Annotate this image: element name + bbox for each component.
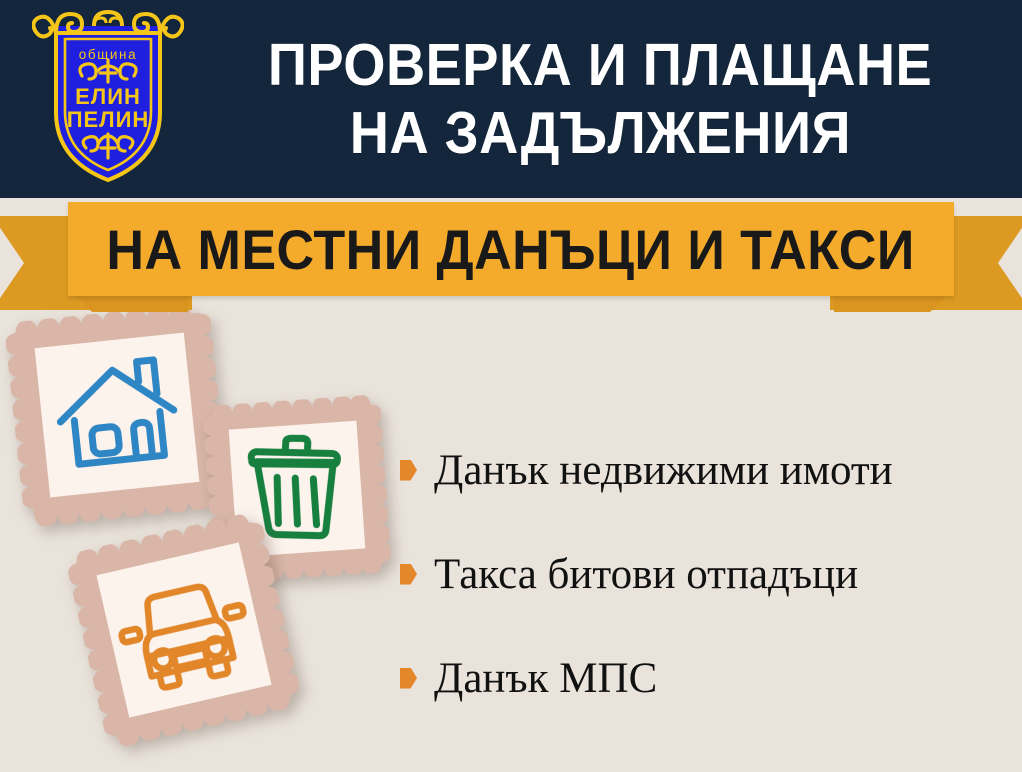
ribbon-text: НА МЕСТНИ ДАНЪЦИ И ТАКСИ: [107, 217, 915, 282]
poster-title: ПРОВЕРКА И ПЛАЩАНЕ НА ЗАДЪЛЖЕНИЯ: [186, 16, 1014, 182]
title-line-2: НА ЗАДЪЛЖЕНИЯ: [349, 99, 850, 167]
bullet-arrow-icon: [400, 564, 417, 585]
crest-name-line-1: ЕЛИН: [75, 84, 141, 109]
bullet-arrow-icon: [400, 668, 417, 689]
bullet-arrow-icon: [400, 460, 417, 481]
list-item[interactable]: Данък МПС: [400, 626, 1010, 730]
subtitle-ribbon: НА МЕСТНИ ДАНЪЦИ И ТАКСИ: [0, 196, 1022, 322]
tax-type-list: Данък недвижими имоти Такса битови отпад…: [400, 418, 1010, 730]
title-line-1: ПРОВЕРКА И ПЛАЩАНЕ: [268, 31, 932, 99]
list-item[interactable]: Данък недвижими имоти: [400, 418, 1010, 522]
poster-root: община ЕЛИН ПЕЛИН ПРОВЕРКА: [0, 0, 1022, 772]
ribbon-plate: НА МЕСТНИ ДАНЪЦИ И ТАКСИ: [68, 202, 954, 296]
list-item-label: Данък МПС: [434, 657, 657, 700]
list-item-label: Такса битови отпадъци: [434, 553, 858, 596]
stamp-collage: [0, 300, 420, 772]
stamp-house: [4, 302, 230, 528]
list-item[interactable]: Такса битови отпадъци: [400, 522, 1010, 626]
list-item-label: Данък недвижими имоти: [434, 449, 893, 492]
municipality-crest-logo: община ЕЛИН ПЕЛИН: [32, 8, 184, 186]
crest-name-line-2: ПЕЛИН: [67, 107, 150, 132]
